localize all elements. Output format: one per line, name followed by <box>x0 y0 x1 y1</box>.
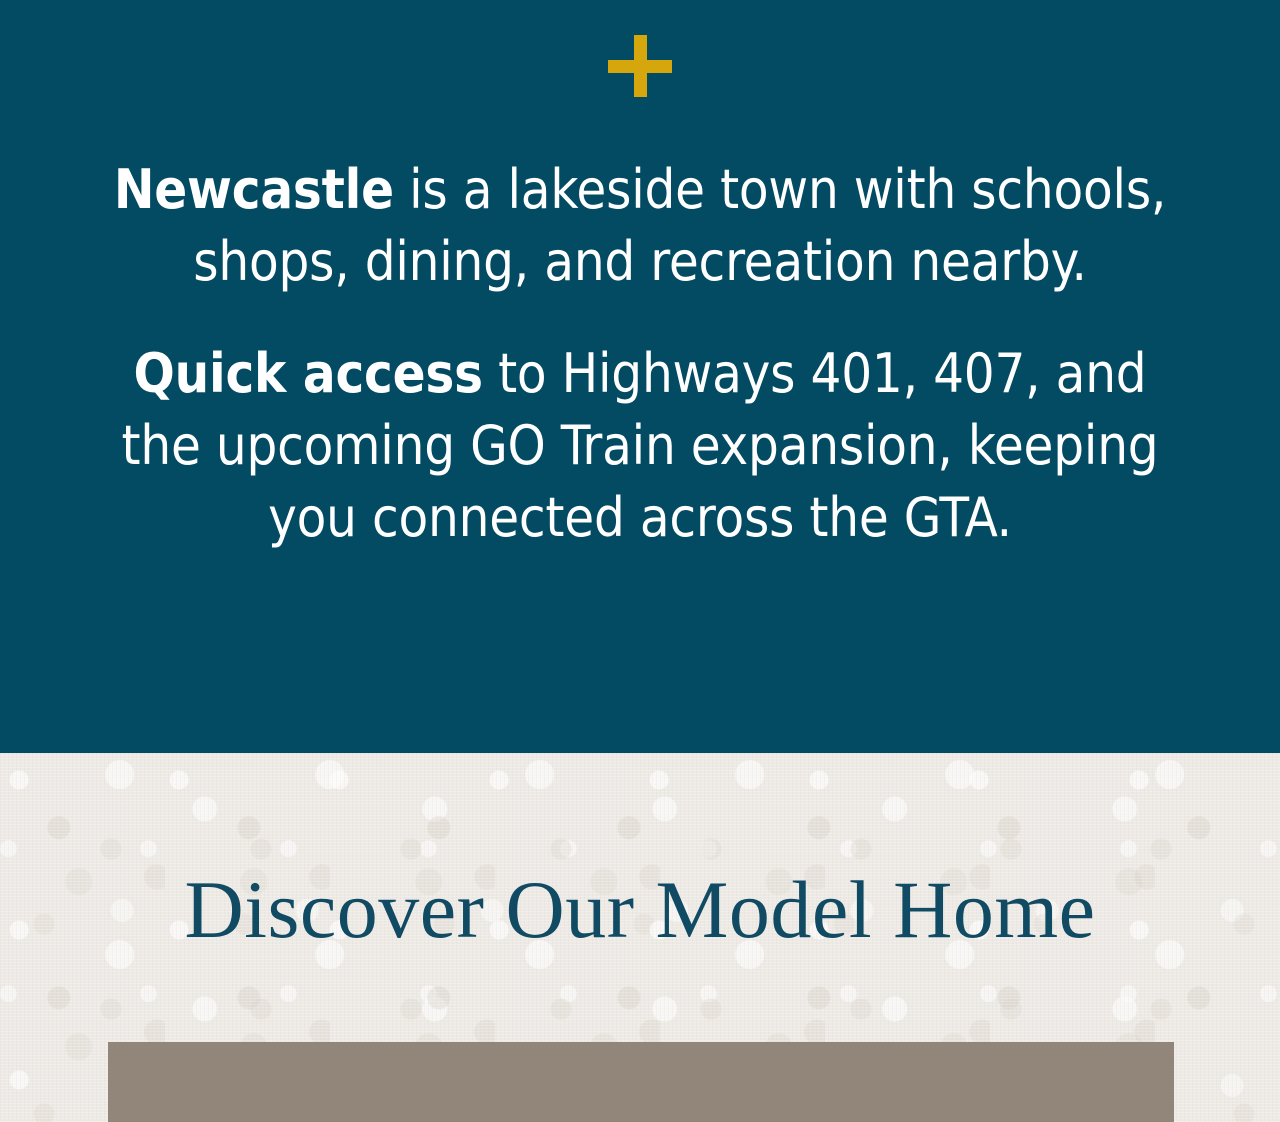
model-home-section: Discover Our Model Home <box>0 753 1280 1122</box>
location-paragraph-lakeside: Newcastle is a lakeside town with school… <box>75 154 1205 298</box>
plus-icon-horizontal-bar <box>608 60 672 73</box>
location-paragraph-access-lead: Quick access <box>134 342 483 405</box>
location-highlights-section: Newcastle is a lakeside town with school… <box>0 0 1280 753</box>
plus-icon <box>608 35 672 97</box>
location-paragraph-lakeside-lead: Newcastle <box>114 158 394 221</box>
model-home-heading: Discover Our Model Home <box>0 865 1280 955</box>
location-paragraph-access: Quick access to Highways 401, 407, and t… <box>95 338 1185 554</box>
model-home-media-placeholder[interactable] <box>108 1042 1174 1122</box>
landing-page: Newcastle is a lakeside town with school… <box>0 0 1280 1122</box>
location-copy: Newcastle is a lakeside town with school… <box>75 154 1205 554</box>
